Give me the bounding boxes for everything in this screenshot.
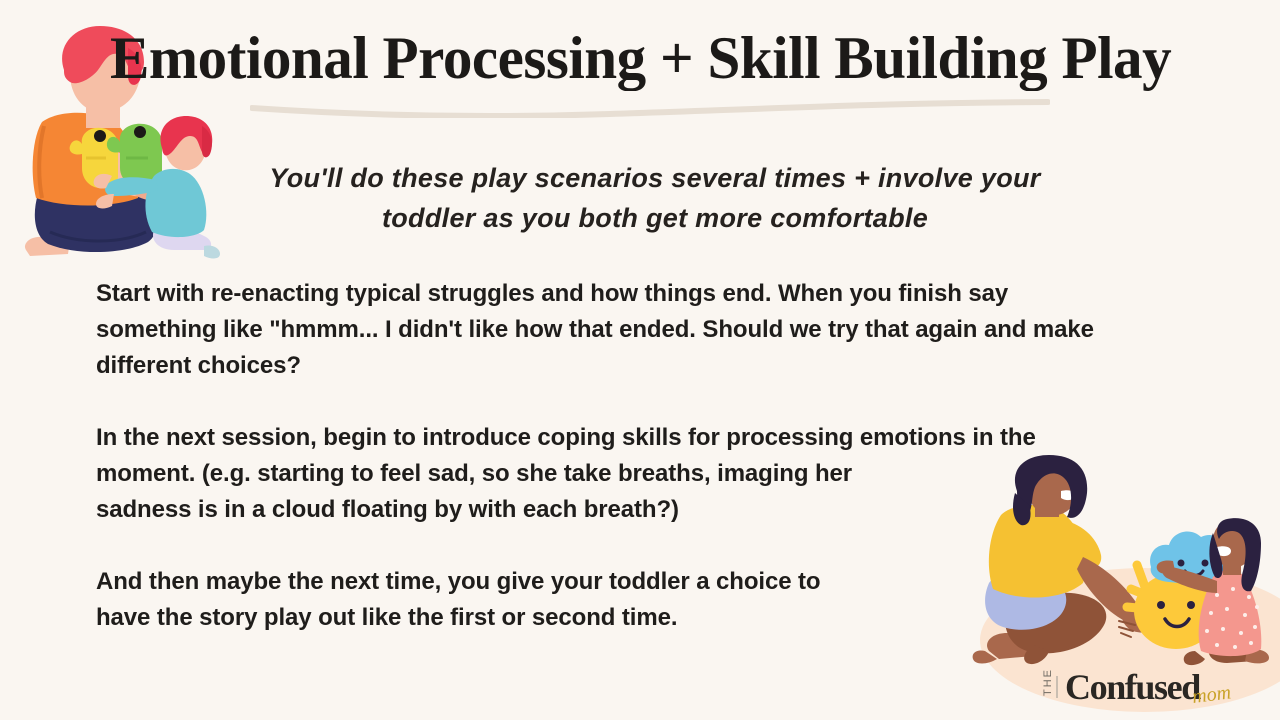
subtitle: You'll do these play scenarios several t… bbox=[210, 158, 1100, 238]
logo-main-text: Confused bbox=[1065, 667, 1201, 707]
brand-logo: THE Confused mom bbox=[1035, 662, 1250, 710]
slide-canvas: Emotional Processing + Skill Building Pl… bbox=[0, 0, 1280, 720]
subtitle-line-2: toddler as you both get more comfortable bbox=[210, 198, 1100, 238]
paragraph-2-line-1: In the next session, begin to introduce … bbox=[96, 420, 1271, 456]
logo-script-text: mom bbox=[1191, 681, 1232, 708]
paragraph-1-line-2: something like "hmmm... I didn't like ho… bbox=[96, 312, 1271, 348]
subtitle-line-1: You'll do these play scenarios several t… bbox=[210, 158, 1100, 198]
page-title: Emotional Processing + Skill Building Pl… bbox=[110, 22, 1164, 94]
paragraph-1-line-3: different choices? bbox=[96, 348, 1271, 384]
logo-the-text: THE bbox=[1042, 668, 1054, 696]
paragraph-1: Start with re-enacting typical struggles… bbox=[96, 276, 1271, 384]
decorative-divider bbox=[250, 96, 1050, 118]
paragraph-1-line-1: Start with re-enacting typical struggles… bbox=[96, 276, 1271, 312]
